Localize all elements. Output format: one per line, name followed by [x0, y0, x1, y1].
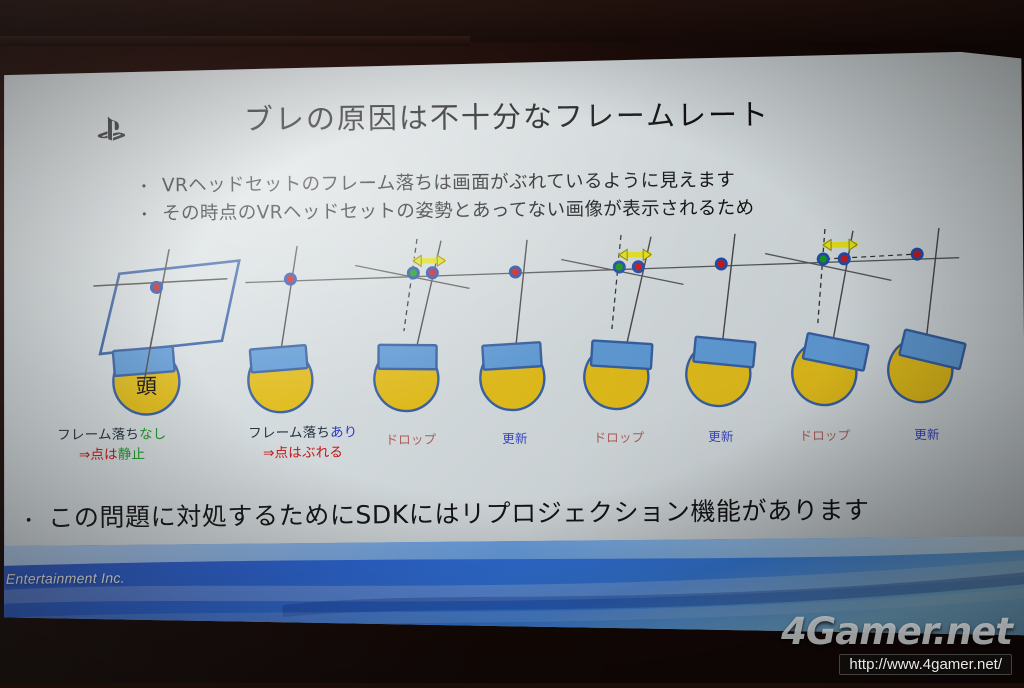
- projection-screen: ブレの原因は不十分なフレームレート ・ VRヘッドセットのフレーム落ちは画面がぶ…: [0, 0, 1024, 683]
- caption-nodrop-result-a: ⇒点は: [79, 446, 118, 462]
- watermark-logo: 4Gamer.net: [781, 613, 1012, 650]
- caption-drop-text-b: あり: [330, 424, 358, 440]
- caption-no-frame-drop: フレーム落ちなし ⇒点は静止: [37, 425, 187, 466]
- caption-nodrop-text-a: フレーム落ち: [57, 427, 139, 444]
- seq-label-2: 更新: [475, 430, 555, 449]
- reference-line: [245, 258, 959, 283]
- seq-label-1: ドロップ: [371, 431, 451, 450]
- seq-label-4: 更新: [681, 428, 761, 447]
- caption-with-frame-drop: フレーム落ちあり ⇒点はぶれる: [223, 423, 383, 464]
- static-example-group: 頭: [93, 249, 241, 415]
- caption-drop-text-a: フレーム落ち: [248, 425, 330, 442]
- seq-head-3-update: [477, 240, 546, 412]
- playstation-logo: [94, 114, 128, 144]
- bullet-item-1: ・ VRヘッドセットのフレーム落ちは画面がぶれているように見えます: [136, 166, 735, 198]
- seq-head-5-update: [678, 234, 759, 414]
- seq-label-5: ドロップ: [785, 427, 865, 446]
- bullet-item-bottom: ・ この問題に対処するためにSDKにはリプロジェクション機能があります: [19, 491, 869, 535]
- seq-label-3: ドロップ: [579, 429, 659, 448]
- slide-surface: ブレの原因は不十分なフレームレート ・ VRヘッドセットのフレーム落ちは画面がぶ…: [0, 0, 1024, 688]
- watermark: 4Gamer.net http://www.4gamer.net/: [781, 613, 1012, 675]
- head-label: 頭: [136, 374, 157, 398]
- caption-nodrop-result-b: 静止: [118, 446, 146, 462]
- seq-label-6: 更新: [887, 426, 967, 445]
- displacement-arrow: [619, 249, 651, 260]
- seq-head-7-update: [877, 228, 971, 415]
- bullet-text: VRヘッドセットのフレーム落ちは画面がぶれているように見えます: [162, 166, 736, 198]
- slide-title: ブレの原因は不十分なフレームレート: [244, 90, 884, 138]
- bullet-text: この問題に対処するためにSDKにはリプロジェクション機能があります: [48, 491, 870, 535]
- slide-footer-copyright: puter Entertainment Inc.: [0, 570, 125, 588]
- displacement-arrow: [823, 239, 857, 250]
- seq-head-2-drop: [355, 238, 471, 415]
- bullet-item-2: ・ その時点のVRヘッドセットの姿勢とあってない画像が表示されるため: [137, 194, 755, 226]
- visor: [113, 346, 175, 376]
- caption-drop-result: ⇒点はぶれる: [263, 444, 343, 461]
- watermark-url: http://www.4gamer.net/: [839, 654, 1012, 675]
- head-static: [113, 337, 180, 415]
- bullet-marker: ・: [136, 179, 152, 194]
- bullet-text: その時点のVRヘッドセットの姿勢とあってない画像が表示されるため: [162, 194, 755, 226]
- seq-head-1: [247, 246, 313, 413]
- vr-screen-quad: [99, 261, 240, 354]
- bullet-marker: ・: [20, 513, 39, 531]
- fixed-point-dot: [150, 281, 163, 294]
- seq-head-6-drop: [765, 228, 917, 416]
- caption-nodrop-text-b: なし: [139, 426, 167, 442]
- displacement-arrow: [413, 255, 445, 266]
- room-shelf-edge: [0, 36, 470, 46]
- bullet-marker: ・: [137, 207, 153, 222]
- seq-head-4-drop: [561, 234, 685, 415]
